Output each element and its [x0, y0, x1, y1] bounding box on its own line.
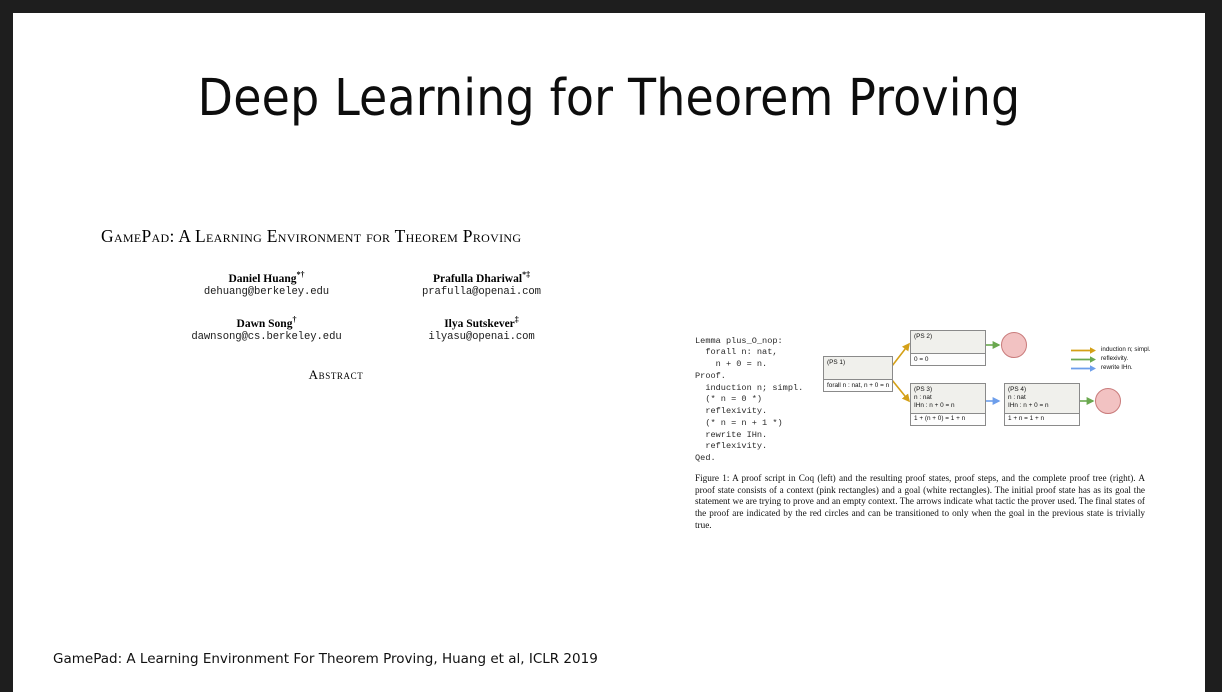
proof-state-goal: 0 = 0 — [911, 353, 985, 365]
proof-state-id: (PS 3) — [914, 386, 982, 394]
author-affiliation-mark: ‡ — [515, 315, 519, 324]
proof-state-box-ps1: (PS 1) forall n : nat, n + 0 = n — [823, 356, 893, 392]
proof-state-id: (PS 4) — [1008, 386, 1076, 394]
author-email: dehuang@berkeley.edu — [159, 286, 374, 300]
proof-state-context: (PS 4) n : nat IHn : n + 0 = n — [1005, 384, 1079, 413]
author-list: Daniel Huang*† dehuang@berkeley.edu Praf… — [159, 270, 589, 345]
author-email: dawnsong@cs.berkeley.edu — [159, 331, 374, 345]
context-hypothesis: IHn : n + 0 = n — [914, 402, 982, 410]
proof-state-goal: forall n : nat, n + 0 = n — [824, 379, 892, 391]
author-affiliation-mark: † — [292, 315, 296, 324]
slide-canvas: Deep Learning for Theorem Proving GamePa… — [13, 13, 1205, 692]
legend-item: rewrite IHn. — [1071, 364, 1151, 373]
proof-tree-diagram: (PS 1) forall n : nat, n + 0 = n (PS 2) … — [823, 318, 1163, 458]
legend-label: rewrite IHn. — [1101, 365, 1133, 371]
legend-arrow-reflexivity-icon — [1071, 355, 1097, 364]
final-state-circle-bottom — [1095, 388, 1121, 414]
context-hypothesis: n : nat — [914, 394, 982, 402]
paper-title: GamePad: A Learning Environment for Theo… — [101, 225, 541, 248]
legend-item: reflexivity. — [1071, 355, 1151, 364]
legend-item: induction n; simpl. — [1071, 346, 1151, 355]
tactic-legend: induction n; simpl. reflexivity. — [1071, 346, 1151, 373]
figure-caption: Figure 1: A proof script in Coq (left) a… — [695, 473, 1145, 531]
author-entry: Prafulla Dhariwal*‡ prafulla@openai.com — [374, 270, 589, 300]
legend-label: reflexivity. — [1101, 356, 1128, 362]
proof-state-goal: 1 + n = 1 + n — [1005, 413, 1079, 425]
abstract-heading: Abstract — [101, 367, 571, 383]
proof-state-id: (PS 2) — [914, 333, 982, 341]
proof-state-id: (PS 1) — [827, 359, 889, 367]
author-affiliation-mark: *‡ — [522, 270, 530, 279]
author-email: ilyasu@openai.com — [374, 331, 589, 345]
final-state-circle-top — [1001, 332, 1027, 358]
proof-state-context: (PS 3) n : nat IHn : n + 0 = n — [911, 384, 985, 413]
author-entry: Dawn Song† dawnsong@cs.berkeley.edu — [159, 315, 374, 345]
legend-label: induction n; simpl. — [1101, 347, 1151, 353]
author-name: Dawn Song† — [159, 315, 374, 331]
paper-excerpt: GamePad: A Learning Environment for Theo… — [101, 225, 571, 396]
slide-footer-citation: GamePad: A Learning Environment For Theo… — [53, 651, 598, 667]
author-affiliation-mark: *† — [297, 270, 305, 279]
author-entry: Ilya Sutskever‡ ilyasu@openai.com — [374, 315, 589, 345]
proof-state-context: (PS 1) — [824, 357, 892, 379]
proof-state-goal: 1 + (n + 0) = 1 + n — [911, 413, 985, 425]
author-name: Prafulla Dhariwal*‡ — [374, 270, 589, 286]
proof-state-box-ps4: (PS 4) n : nat IHn : n + 0 = n 1 + n = 1… — [1004, 383, 1080, 426]
context-hypothesis: IHn : n + 0 = n — [1008, 402, 1076, 410]
author-entry: Daniel Huang*† dehuang@berkeley.edu — [159, 270, 374, 300]
author-name: Ilya Sutskever‡ — [374, 315, 589, 331]
coq-proof-script: Lemma plus_O_nop: forall n: nat, n + 0 =… — [695, 336, 803, 465]
author-email: prafulla@openai.com — [374, 286, 589, 300]
legend-arrow-rewrite-icon — [1071, 364, 1097, 373]
presentation-frame: Deep Learning for Theorem Proving GamePa… — [0, 0, 1222, 692]
proof-state-box-ps3: (PS 3) n : nat IHn : n + 0 = n 1 + (n + … — [910, 383, 986, 426]
proof-state-context: (PS 2) — [911, 331, 985, 353]
proof-state-box-ps2: (PS 2) 0 = 0 — [910, 330, 986, 366]
legend-arrow-induction-icon — [1071, 346, 1097, 355]
context-hypothesis: n : nat — [1008, 394, 1076, 402]
slide-title: Deep Learning for Theorem Proving — [13, 69, 1205, 128]
author-name: Daniel Huang*† — [159, 270, 374, 286]
